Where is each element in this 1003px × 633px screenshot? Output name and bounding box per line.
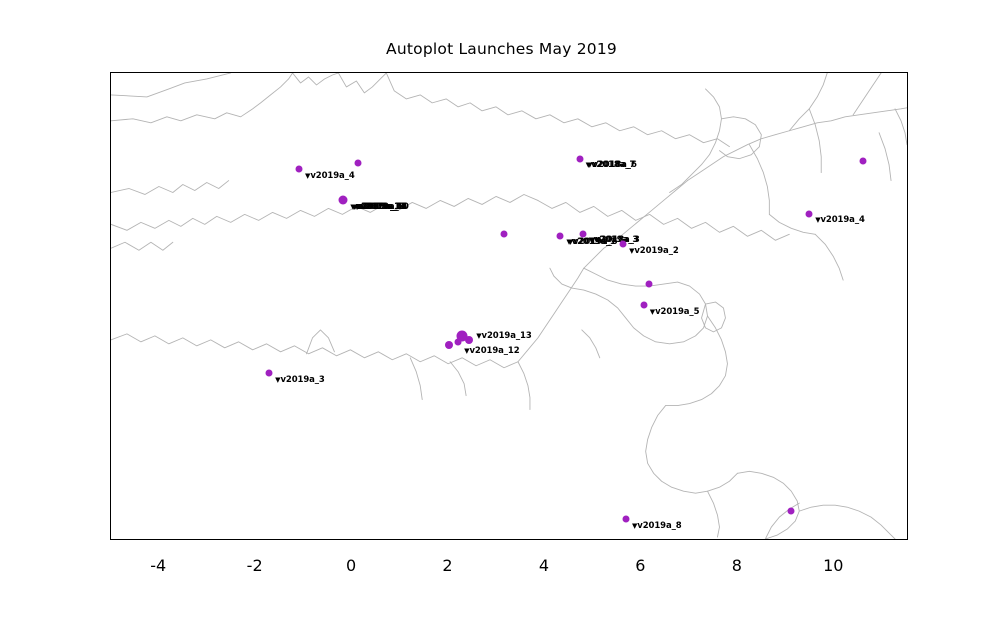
y-tick-major bbox=[110, 174, 111, 175]
pt-grenoble[interactable] bbox=[622, 516, 629, 523]
x-tick-label: -2 bbox=[247, 556, 263, 575]
pt-liege[interactable] bbox=[579, 230, 586, 237]
point-label: ▼v2019a_12 bbox=[464, 346, 519, 356]
y-tick-major bbox=[110, 478, 111, 479]
pt-italy-alps[interactable] bbox=[787, 507, 794, 514]
pt-germany-ne[interactable] bbox=[860, 157, 867, 164]
x-tick-label: 0 bbox=[346, 556, 356, 575]
pt-germany-kassel[interactable] bbox=[806, 210, 813, 217]
point-label: ▼v2019a_3 bbox=[275, 375, 325, 385]
x-tick-label: 8 bbox=[732, 556, 742, 575]
pt-luxembourg[interactable] bbox=[640, 301, 647, 308]
pt-rennes[interactable] bbox=[266, 369, 273, 376]
y-tick-minor bbox=[110, 427, 111, 428]
pt-maastricht[interactable] bbox=[620, 241, 627, 248]
y-tick-minor bbox=[110, 124, 111, 125]
pt-luxembourg-n[interactable] bbox=[645, 281, 652, 288]
point-label: ▼v2019a_14 bbox=[350, 202, 405, 212]
x-tick-label: 10 bbox=[823, 556, 843, 575]
y-tick-major bbox=[110, 377, 111, 378]
y-tick-minor bbox=[110, 326, 111, 327]
y-tick-minor bbox=[110, 528, 111, 529]
page-title: Autoplot Launches May 2019 bbox=[0, 40, 1003, 58]
pt-london-n[interactable] bbox=[296, 166, 303, 173]
point-label: ▼v2019a_4 bbox=[815, 215, 865, 225]
y-tick-minor bbox=[110, 225, 111, 226]
point-label: ▼v2019a_5 bbox=[650, 307, 700, 317]
pt-paris-d[interactable] bbox=[455, 339, 462, 346]
pt-lille[interactable] bbox=[500, 230, 507, 237]
point-label: ▼v2019a_13 bbox=[476, 331, 531, 341]
x-tick-label: 2 bbox=[442, 556, 452, 575]
x-tick-label: 4 bbox=[539, 556, 549, 575]
pt-netherlands[interactable] bbox=[576, 156, 583, 163]
point-label: ▼v2018a_3 bbox=[590, 235, 640, 245]
y-tick-major bbox=[110, 275, 111, 276]
pt-london[interactable] bbox=[339, 196, 348, 205]
pt-eastanglia[interactable] bbox=[354, 160, 361, 167]
pt-paris-c[interactable] bbox=[465, 336, 473, 344]
coastline-map bbox=[111, 73, 907, 539]
point-label: ▼v2019a_8 bbox=[632, 521, 682, 531]
x-tick-label: -4 bbox=[150, 556, 166, 575]
point-label: ▼v2018a_6 bbox=[587, 160, 637, 170]
point-label: ▼v2019a_4 bbox=[305, 171, 355, 181]
y-tick-major bbox=[110, 73, 111, 74]
figure-canvas: Autoplot Launches May 2019 bbox=[0, 0, 1003, 633]
point-label: ▼v2019a_2 bbox=[629, 246, 679, 256]
pt-brussels[interactable] bbox=[557, 232, 564, 239]
pt-paris-a[interactable] bbox=[445, 341, 453, 349]
plot-area: ▼v2019a_4▼v2019a_11▼v2019a_14▼v2019a_10▼… bbox=[110, 72, 908, 540]
x-tick-label: 6 bbox=[635, 556, 645, 575]
